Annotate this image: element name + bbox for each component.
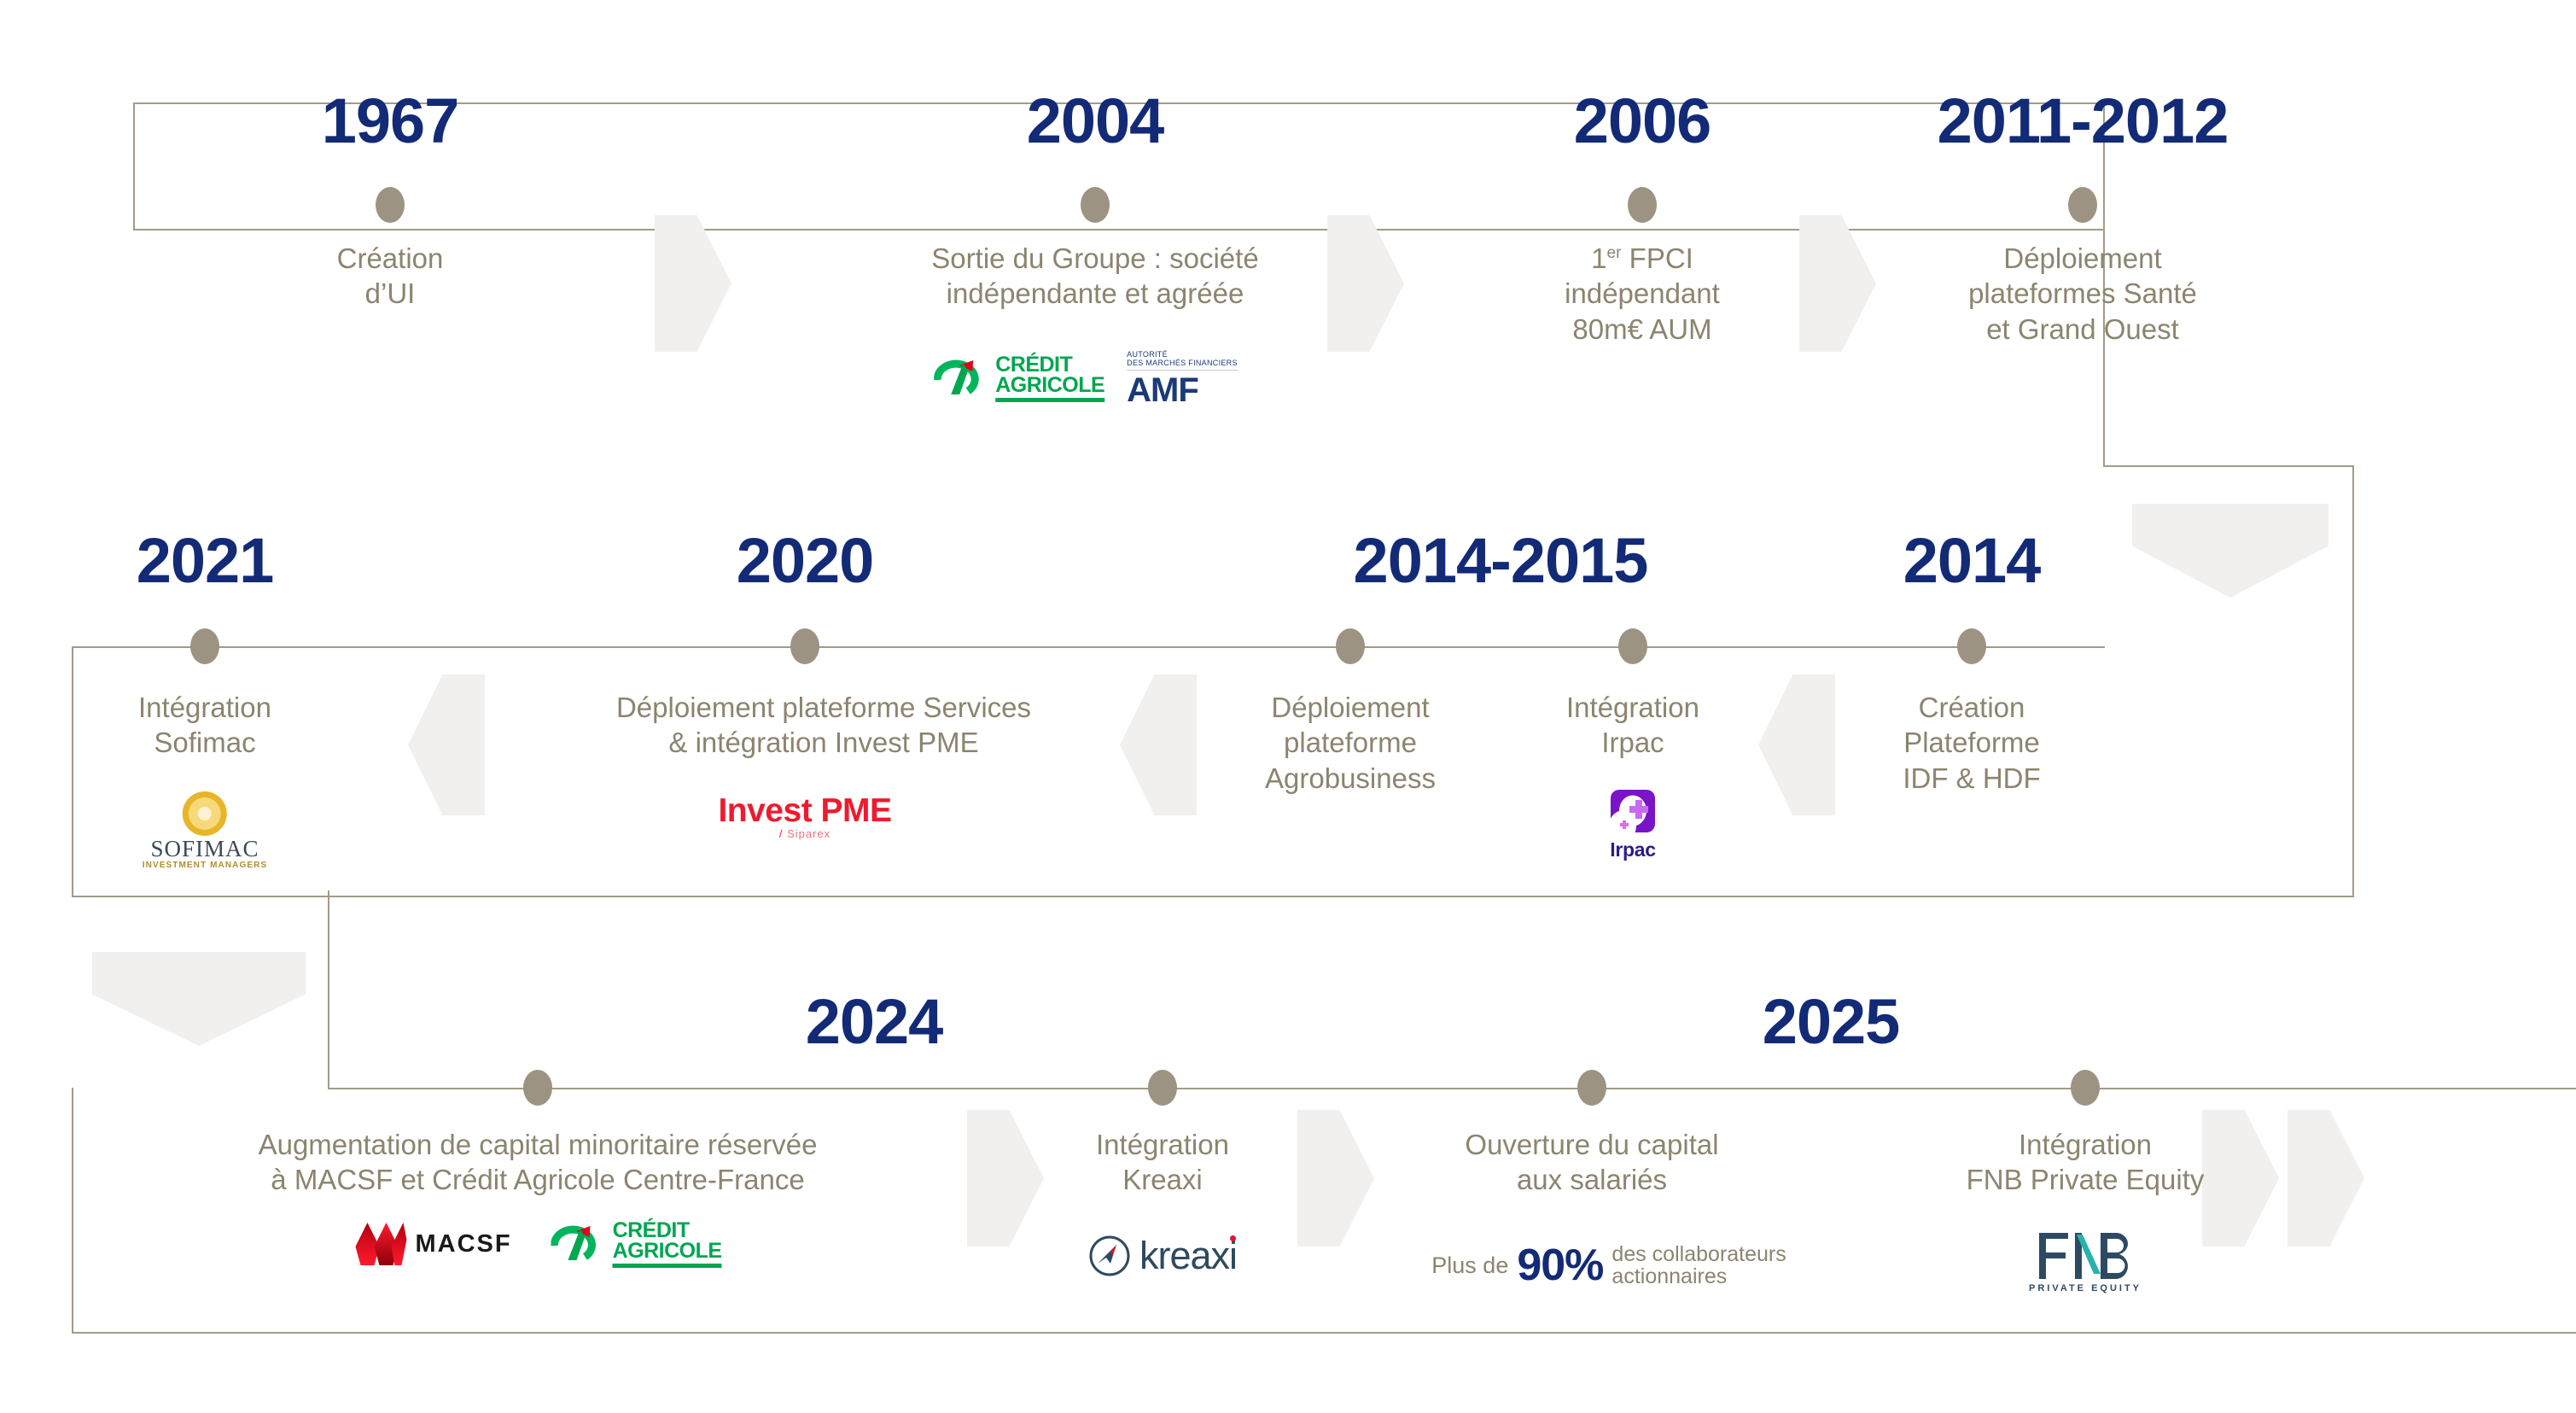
fnb-private-equity-logo: PRIVATE EQUITY <box>2029 1229 2142 1293</box>
macsf-logo: MACSF <box>353 1221 511 1267</box>
timeline-dot-2006 <box>1628 187 1657 223</box>
row3-top-line <box>328 1088 2576 1089</box>
event-description-2025: Intégration FNB Private Equity <box>1863 1127 2307 1198</box>
credit-agricole-mark <box>934 359 988 398</box>
year-label-2020: 2020 <box>737 529 874 593</box>
fnb-tagline: PRIVATE EQUITY <box>2029 1283 2142 1293</box>
sofimac-emblem <box>181 790 229 838</box>
timeline-dot-2020 <box>790 628 819 664</box>
logo-group-2020: Invest PME / Siparex <box>718 794 891 840</box>
event-description-2020: Déploiement plateforme Services & intégr… <box>516 690 1131 761</box>
row2-left-edge <box>72 646 73 897</box>
year-label-2014-2015: 2014-2015 <box>1354 529 1648 593</box>
logo-group-2024: kreaxi <box>1088 1234 1237 1278</box>
event-description-irpac: Intégration Irpac <box>1483 690 1782 761</box>
timeline-dot-irpac <box>1618 628 1647 664</box>
amf-logo: AUTORITÉ DES MARCHÉS FINANCIERS AMF <box>1127 350 1238 407</box>
invest-pme-logo: Invest PME / Siparex <box>718 794 891 840</box>
timeline-dot-2024 <box>1148 1070 1177 1106</box>
stat-value: 90% <box>1517 1240 1603 1291</box>
employee-shareholder-stat: Plus de 90% des collaborateurs actionnai… <box>1431 1240 1786 1291</box>
timeline-dot-2014 <box>1957 628 1986 664</box>
event-description-2024-capital: Augmentation de capital minoritaire rése… <box>102 1127 973 1198</box>
timeline-dot-2025 <box>2071 1070 2100 1106</box>
irpac-wordmark: Irpac <box>1610 838 1655 861</box>
timeline-dot-2021 <box>190 628 219 664</box>
kreaxi-logo: kreaxi <box>1088 1234 1237 1278</box>
timeline-dot-2004 <box>1081 187 1110 223</box>
year-label-2014: 2014 <box>1903 529 2041 593</box>
chevron-down-left <box>92 952 306 1046</box>
event-description-1967: Création d’UI <box>228 241 552 312</box>
amf-tagline: AUTORITÉ DES MARCHÉS FINANCIERS <box>1127 350 1238 371</box>
kreaxi-dot-icon <box>1230 1235 1236 1241</box>
siparex-tagline: / Siparex <box>779 827 830 840</box>
chevron-right-1 <box>655 215 731 352</box>
year-label-2004: 2004 <box>1027 90 1164 153</box>
credit-agricole-wordmark: CRÉDIT AGRICOLE <box>995 355 1104 402</box>
row2-right-edge <box>2352 465 2354 897</box>
year-label-1967: 1967 <box>322 90 459 153</box>
logo-group-2024-capital: MACSF CRÉDIT AGRICOLE <box>353 1221 721 1268</box>
irpac-logo: Irpac <box>1607 790 1658 861</box>
event-description-2004: Sortie du Groupe : société indépendante … <box>822 241 1368 312</box>
logo-group-2004: CRÉDIT AGRICOLE AUTORITÉ DES MARCHÉS FIN… <box>934 350 1238 407</box>
row3-bottom-line <box>72 1332 2576 1334</box>
timeline-dot-2024-capital <box>523 1070 552 1106</box>
event-description-2006: 1er FPCI indépendant 80m€ AUM <box>1446 241 1839 347</box>
row3-top-left-stub <box>328 890 329 1089</box>
amf-wordmark: AMF <box>1127 373 1198 407</box>
fnb-mark <box>2034 1229 2136 1282</box>
row3-left-edge <box>72 1088 73 1334</box>
year-label-2006: 2006 <box>1574 90 1711 153</box>
timeline-infographic: 1967 Création d’UI 2004 Sortie du Groupe… <box>0 0 2576 1413</box>
invest-pme-wordmark: Invest PME <box>718 794 891 827</box>
logo-group-irpac: Irpac <box>1607 790 1658 861</box>
sofimac-tagline: INVESTMENT MANAGERS <box>143 861 267 870</box>
kreaxi-wordmark: kreaxi <box>1139 1234 1237 1278</box>
stat-prefix: Plus de <box>1431 1252 1508 1279</box>
event-description-2021: Intégration Sofimac <box>64 690 346 761</box>
macsf-mark <box>353 1221 406 1267</box>
credit-agricole-logo: CRÉDIT AGRICOLE <box>551 1221 722 1268</box>
timeline-dot-1967 <box>376 187 405 223</box>
sofimac-logo: SOFIMAC INVESTMENT MANAGERS <box>143 790 267 870</box>
chevron-left-1 <box>408 674 485 815</box>
timeline-dot-2014-2015 <box>1336 628 1365 664</box>
event-description-2024: Intégration Kreaxi <box>1000 1127 1325 1198</box>
credit-agricole-wordmark: CRÉDIT AGRICOLE <box>613 1221 722 1268</box>
macsf-wordmark: MACSF <box>415 1230 511 1258</box>
year-label-2021: 2021 <box>137 529 274 593</box>
irpac-emblem <box>1607 790 1658 838</box>
logo-group-2025: PRIVATE EQUITY <box>2029 1229 2142 1293</box>
timeline-dot-2011-2012 <box>2068 187 2097 223</box>
year-label-2025: 2025 <box>1763 990 1900 1054</box>
chevron-down-right <box>2132 504 2328 598</box>
year-label-2024: 2024 <box>806 990 943 1054</box>
row2-bottom-line <box>72 896 2354 897</box>
credit-agricole-mark <box>551 1224 606 1264</box>
event-description-2011-2012: Déploiement plateformes Santé et Grand O… <box>1861 241 2305 347</box>
event-description-2014: Création Plateforme IDF & HDF <box>1792 690 2151 796</box>
timeline-dot-2025-capital <box>1577 1070 1606 1106</box>
logo-group-2021: SOFIMAC INVESTMENT MANAGERS <box>143 790 267 870</box>
stat-suffix: des collaborateurs actionnaires <box>1611 1243 1786 1288</box>
row1-row2-right-top <box>2103 465 2354 467</box>
row2-top-line <box>72 646 2105 648</box>
sofimac-wordmark: SOFIMAC <box>150 838 259 861</box>
kreaxi-mark <box>1088 1235 1131 1277</box>
credit-agricole-logo: CRÉDIT AGRICOLE <box>934 355 1104 402</box>
event-description-2014-2015: Déploiement plateforme Agrobusiness <box>1180 690 1521 796</box>
event-description-2025-capital: Ouverture du capital aux salariés <box>1370 1127 1814 1198</box>
year-label-2011-2012: 2011-2012 <box>1938 90 2229 153</box>
